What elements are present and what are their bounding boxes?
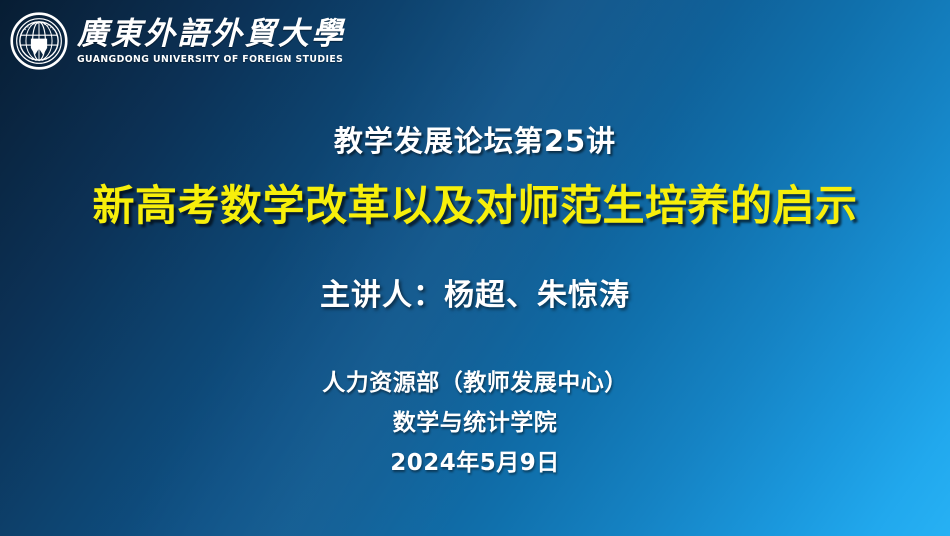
title-slide: 廣東外語外貿大學 GUANGDONG UNIVERSITY OF FOREIGN… [0, 0, 950, 536]
presentation-main-title: 新高考数学改革以及对师范生培养的启示 [0, 172, 950, 233]
university-wordmark: 廣東外語外貿大學 GUANGDONG UNIVERSITY OF FOREIGN… [77, 17, 345, 65]
affiliation-line-department: 人力资源部（教师发展中心） [0, 372, 950, 395]
affiliation-block: 人力资源部（教师发展中心） 数学与统计学院 2024年5月9日 [0, 372, 950, 475]
university-crest-globe-icon [10, 12, 68, 70]
university-name-english: GUANGDONG UNIVERSITY OF FOREIGN STUDIES [77, 54, 345, 65]
university-name-chinese: 廣東外語外貿大學 [77, 19, 345, 51]
affiliation-line-school: 数学与统计学院 [0, 412, 950, 435]
presenter-line: 主讲人：杨超、朱惊涛 [0, 270, 950, 314]
university-logo-lockup: 廣東外語外貿大學 GUANGDONG UNIVERSITY OF FOREIGN… [10, 12, 345, 70]
forum-series-subtitle: 教学发展论坛第25讲 [0, 118, 950, 160]
affiliation-line-date: 2024年5月9日 [0, 452, 950, 475]
